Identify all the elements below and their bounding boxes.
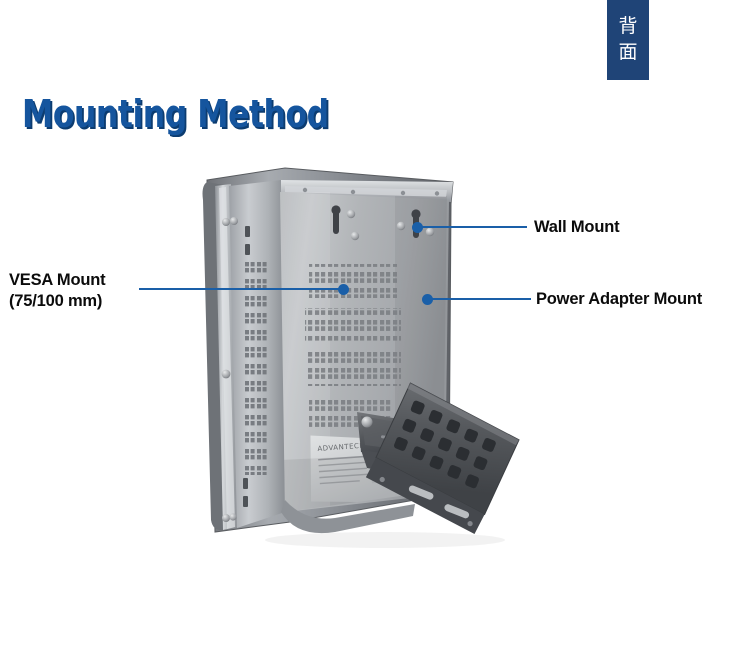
callout-wall-mount-label: Wall Mount [534,218,619,236]
badge-char-2: 面 [618,42,637,64]
callout-vesa-mount-label-line1: VESA Mount [9,270,105,291]
callout-vesa-mount: VESA Mount (75/100 mm) [9,270,105,312]
callout-power-adapter-mount: Power Adapter Mount [536,289,702,310]
product-image: ADVANTECH [185,160,525,560]
back-side-badge: 背 面 [607,0,649,80]
callout-power-adapter-mount-label: Power Adapter Mount [536,290,702,308]
callout-wall-mount: Wall Mount [534,217,619,238]
leader-dot-wall-mount [412,222,423,233]
leader-line-power-adapter-mount [427,298,531,300]
page-root: 背 面 Mounting Method [0,0,750,660]
leader-line-vesa-mount [139,288,345,290]
leader-dot-power-adapter-mount [422,294,433,305]
leader-dot-vesa-mount [338,284,349,295]
page-title: Mounting Method [22,92,329,136]
badge-char-1: 背 [618,16,637,38]
callout-vesa-mount-label-line2: (75/100 mm) [9,291,105,312]
leader-line-wall-mount [417,226,527,228]
